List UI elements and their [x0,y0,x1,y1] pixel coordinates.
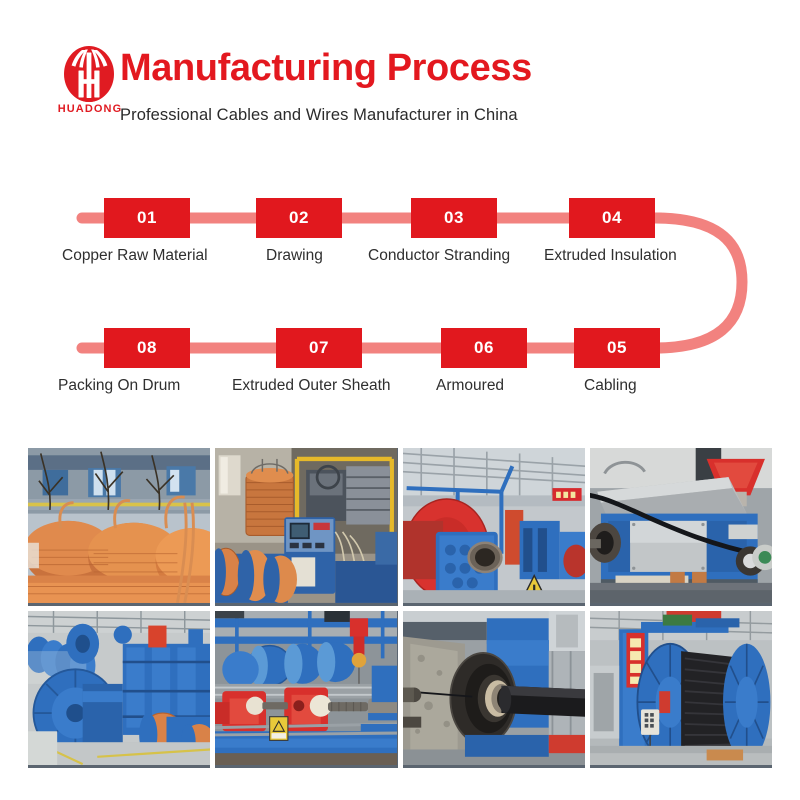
photo-copper-raw-material[interactable] [28,448,210,606]
process-step-label-05: Cabling [584,376,637,396]
process-step-02[interactable]: 02 [256,198,342,238]
photo-drawing-machine[interactable] [215,448,397,606]
page-title: Manufacturing Process [120,44,532,92]
process-step-label-03: Conductor Stranding [368,246,510,266]
process-step-08[interactable]: 08 [104,328,190,368]
brand-wordmark: HUADONG [56,103,124,115]
photo-cabling-machine[interactable] [28,611,210,769]
process-step-label-06: Armoured [436,376,504,396]
page-subtitle: Professional Cables and Wires Manufactur… [120,104,518,126]
process-step-03[interactable]: 03 [411,198,497,238]
photo-armouring-machine[interactable] [215,611,397,769]
process-step-number: 01 [137,208,157,228]
process-step-01[interactable]: 01 [104,198,190,238]
huadong-emblem-icon [60,46,118,102]
process-step-number: 05 [607,338,627,358]
process-step-04[interactable]: 04 [569,198,655,238]
process-photo-gallery [28,448,772,768]
process-flow-diagram: 01 02 03 04 Copper Raw Material Drawing … [0,170,800,420]
process-step-number: 04 [602,208,622,228]
process-step-label-02: Drawing [266,246,323,266]
process-step-05[interactable]: 05 [574,328,660,368]
process-step-number: 08 [137,338,157,358]
process-step-number: 02 [289,208,309,228]
brand-logo: HUADONG [56,46,124,124]
process-step-label-08: Packing On Drum [58,376,180,396]
page-header: HUADONG Manufacturing Process Profession… [0,0,800,150]
photo-conductor-stranding[interactable] [403,448,585,606]
photo-sheathing-die-head[interactable] [403,611,585,769]
process-step-number: 07 [309,338,329,358]
process-step-label-04: Extruded Insulation [544,246,677,266]
process-step-07[interactable]: 07 [276,328,362,368]
photo-extruded-insulation[interactable] [590,448,772,606]
process-step-number: 03 [444,208,464,228]
process-step-label-07: Extruded Outer Sheath [232,376,391,396]
process-step-label-01: Copper Raw Material [62,246,208,266]
process-step-number: 06 [474,338,494,358]
process-step-06[interactable]: 06 [441,328,527,368]
manufacturing-process-infographic: HUADONG Manufacturing Process Profession… [0,0,800,800]
photo-packing-on-drum[interactable] [590,611,772,769]
